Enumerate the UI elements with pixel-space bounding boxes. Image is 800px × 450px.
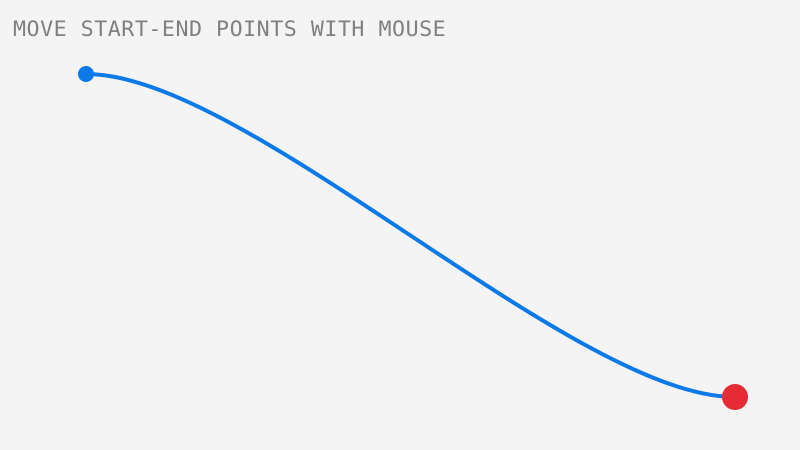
bezier-curve bbox=[86, 74, 735, 397]
end-point-handle[interactable] bbox=[722, 384, 748, 410]
start-point-handle[interactable] bbox=[78, 66, 94, 82]
bezier-canvas[interactable] bbox=[0, 0, 800, 450]
bezier-editor-app: MOVE START-END POINTS WITH MOUSE bbox=[0, 0, 800, 450]
